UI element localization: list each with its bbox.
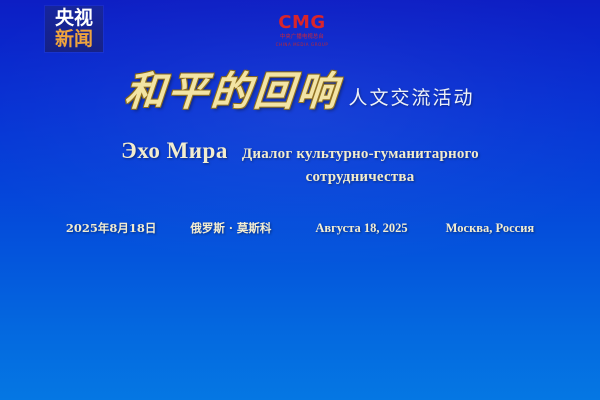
event-date-russian: Августа 18, 2025 bbox=[315, 221, 407, 236]
russian-description-line2: сотрудничества bbox=[0, 169, 600, 186]
event-meta-row: 2025年8月18日 俄罗斯 · 莫斯科 Августа 18, 2025 Мо… bbox=[0, 220, 600, 236]
russian-title: Эхо Мира bbox=[121, 138, 228, 164]
russian-title-block: Эхо Мира Диалог культурно-гуманитарного … bbox=[0, 138, 600, 186]
cctv-news-logo-line2: 新闻 bbox=[55, 30, 93, 49]
cmg-logo-english-name: CHINA MEDIA GROUP bbox=[272, 43, 332, 47]
main-title-row: 和平的回响 人文交流活动 bbox=[0, 72, 600, 112]
event-place-chinese: 俄罗斯 · 莫斯科 bbox=[190, 220, 271, 236]
event-date-chinese: 2025年8月18日 bbox=[66, 220, 157, 236]
cctv-news-logo: 央视 新闻 bbox=[45, 6, 103, 52]
cctv-news-logo-line1: 央视 bbox=[55, 9, 93, 28]
cmg-logo-chinese-name: 中央广播电视总台 bbox=[274, 35, 331, 41]
main-title-chinese: 和平的回响 bbox=[124, 72, 350, 112]
event-title-card: 央视 新闻 CMG 中央广播电视总台 CHINA MEDIA GROUP 和平的… bbox=[0, 0, 600, 400]
cmg-logo-mark: CMG bbox=[272, 14, 332, 32]
russian-title-row: Эхо Мира Диалог культурно-гуманитарного bbox=[0, 138, 600, 164]
main-subtitle-chinese: 人文交流活动 bbox=[348, 89, 474, 112]
event-place-russian: Москва, Россия bbox=[446, 221, 535, 236]
russian-description-line1: Диалог культурно-гуманитарного bbox=[242, 146, 479, 163]
cmg-logo: CMG 中央广播电视总台 CHINA MEDIA GROUP bbox=[272, 14, 332, 47]
